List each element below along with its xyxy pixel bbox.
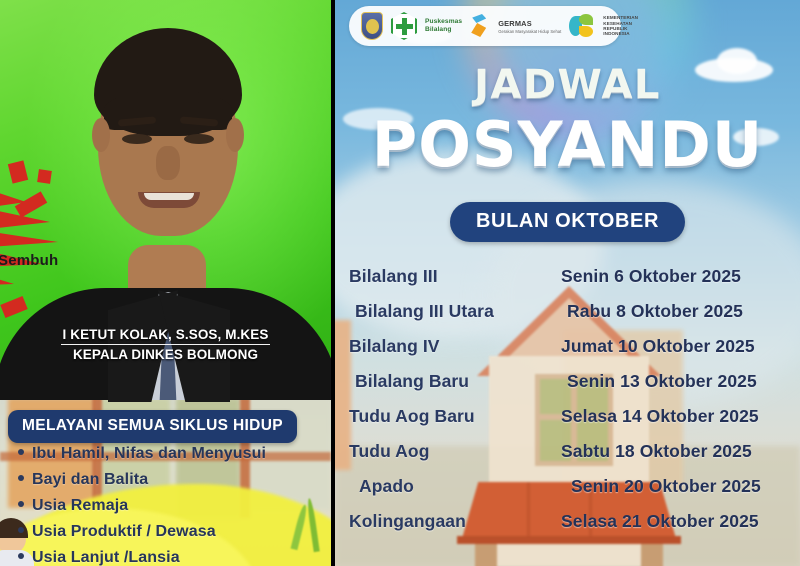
posyandu-date: Selasa 14 Oktober 2025: [561, 406, 794, 427]
posyandu-name: Bilalang III Utara: [349, 301, 567, 322]
house-pillar: [475, 544, 497, 566]
table-row: Tudu Aog Baru Selasa 14 Oktober 2025: [335, 406, 800, 441]
germas-logo-text: GERMAS Gerakan Masyarakat Hidup Sehat: [498, 19, 561, 34]
portrait-eye-left: [122, 134, 152, 144]
table-row: Bilalang III Utara Rabu 8 Oktober 2025: [335, 301, 800, 336]
month-badge: BULAN OKTOBER: [335, 202, 800, 242]
list-item: Usia Remaja: [18, 496, 328, 515]
puskesmas-logo-icon: [391, 12, 417, 40]
puskesmas-line2: Bilalang: [425, 26, 451, 34]
table-row: Bilalang Baru Senin 13 Oktober 2025: [335, 371, 800, 406]
posyandu-date: Jumat 10 Oktober 2025: [561, 336, 794, 357]
list-item-label: Bayi dan Balita: [32, 470, 148, 489]
posyandu-name: Tudu Aog Baru: [349, 406, 561, 427]
table-row: Tudu Aog Sabtu 18 Oktober 2025: [335, 441, 800, 476]
kemenkes-logo-icon: [569, 12, 595, 40]
right-panel: Puskesmas Bilalang GERMAS Gerakan Masyar…: [335, 0, 800, 566]
kemenkes-line4: INDONESIA: [603, 31, 629, 36]
list-item-label: Usia Remaja: [32, 496, 128, 515]
posyandu-name: Tudu Aog: [349, 441, 561, 462]
house-pillar: [641, 544, 663, 566]
bullet-dot-icon: [18, 527, 24, 533]
official-name: I KETUT KOLAK, S.SOS, M.KES: [61, 327, 271, 345]
official-role: KEPALA DINKES BOLMONG: [0, 347, 331, 363]
poster-title-line1: JADWAL: [335, 62, 800, 108]
schedule-table: Bilalang III Senin 6 Oktober 2025 Bilala…: [335, 266, 800, 546]
kemenkes-logo-text: KEMENTERIAN KESEHATAN REPUBLIK INDONESIA: [603, 15, 638, 37]
puskesmas-line1: Puskesmas: [425, 18, 462, 26]
regional-emblem-icon: [361, 12, 383, 40]
services-heading: MELAYANI SEMUA SIKLUS HIDUP: [8, 410, 297, 443]
left-panel: Sembuh I KETUT KOLAK, S.SOS, M.KES KEPAL…: [0, 0, 331, 566]
logo-bar: Puskesmas Bilalang GERMAS Gerakan Masyar…: [349, 6, 621, 46]
bullet-dot-icon: [18, 501, 24, 507]
posyandu-date: Senin 6 Oktober 2025: [561, 266, 794, 287]
posyandu-date: Selasa 21 Oktober 2025: [561, 511, 794, 532]
germas-sublabel: Gerakan Masyarakat Hidup Sehat: [498, 29, 561, 34]
posyandu-name: Apado: [349, 476, 571, 497]
germas-label: GERMAS: [498, 19, 532, 28]
table-row: Apado Senin 20 Oktober 2025: [335, 476, 800, 511]
list-item: Bayi dan Balita: [18, 470, 328, 489]
puskesmas-logo-text: Puskesmas Bilalang: [425, 18, 462, 33]
services-list: Ibu Hamil, Nifas dan Menyusui Bayi dan B…: [18, 444, 328, 566]
poster-image: Sembuh I KETUT KOLAK, S.SOS, M.KES KEPAL…: [0, 0, 800, 566]
poster-title-line2: POSYANDU: [335, 108, 800, 181]
posyandu-date: Sabtu 18 Oktober 2025: [561, 441, 794, 462]
list-item-label: Ibu Hamil, Nifas dan Menyusui: [32, 444, 266, 463]
portrait-caption: I KETUT KOLAK, S.SOS, M.KES KEPALA DINKE…: [0, 326, 331, 363]
posyandu-date: Senin 13 Oktober 2025: [567, 371, 794, 392]
posyandu-name: Bilalang III: [349, 266, 561, 287]
portrait-hair: [94, 28, 242, 136]
posyandu-name: Bilalang Baru: [349, 371, 567, 392]
portrait-ear-left: [92, 118, 110, 152]
posyandu-date: Rabu 8 Oktober 2025: [567, 301, 794, 322]
portrait-mouth: [138, 192, 200, 208]
portrait-nose: [156, 146, 180, 180]
table-row: Kolingangaan Selasa 21 Oktober 2025: [335, 511, 800, 546]
table-row: Bilalang IV Jumat 10 Oktober 2025: [335, 336, 800, 371]
posyandu-name: Kolingangaan: [349, 511, 561, 532]
bullet-dot-icon: [18, 475, 24, 481]
list-item-label: Usia Lanjut /Lansia: [32, 548, 180, 566]
bullet-dot-icon: [18, 553, 24, 559]
posyandu-date: Senin 20 Oktober 2025: [571, 476, 794, 497]
list-item-label: Usia Produktif / Dewasa: [32, 522, 216, 541]
portrait-ear-right: [226, 118, 244, 152]
posyandu-name: Bilalang IV: [349, 336, 561, 357]
list-item: Usia Produktif / Dewasa: [18, 522, 328, 541]
list-item: Ibu Hamil, Nifas dan Menyusui: [18, 444, 328, 463]
portrait-eye-right: [184, 134, 214, 144]
germas-figure-icon: [470, 13, 490, 39]
bullet-dot-icon: [18, 449, 24, 455]
month-badge-label: BULAN OKTOBER: [450, 202, 685, 242]
table-row: Bilalang III Senin 6 Oktober 2025: [335, 266, 800, 301]
list-item: Usia Lanjut /Lansia: [18, 548, 328, 566]
